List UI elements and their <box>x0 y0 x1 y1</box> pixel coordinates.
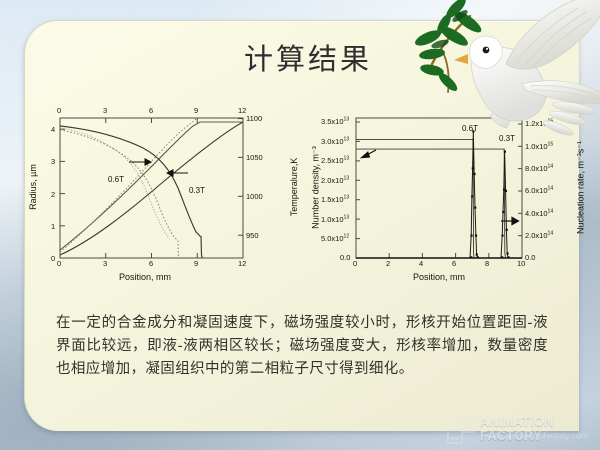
chart-radius-temperature: 0 3 6 9 12 0 3 6 9 12 0 1 2 3 4 950 1000… <box>18 100 300 290</box>
left-chart-y-axis-title: Radius, µm <box>28 149 38 225</box>
left-chart-top-xtick-3: 9 <box>194 106 198 115</box>
right-chart-xtick-3: 6 <box>452 259 456 268</box>
left-chart-xtick-1: 3 <box>103 259 107 268</box>
left-chart-top-xtick-2: 6 <box>149 106 153 115</box>
right-chart-xtick-1: 2 <box>386 259 390 268</box>
left-chart-y2tick-2: 1050 <box>246 153 263 162</box>
right-chart-xtick-4: 8 <box>485 259 489 268</box>
left-chart-ytick-1: 1 <box>51 222 55 231</box>
right-chart-ytick-3: 1.5x1013 <box>321 195 349 204</box>
right-chart-annotation-06t: 0.6T <box>462 124 478 133</box>
right-chart-ytick-6: 3.0x1013 <box>321 137 349 146</box>
left-chart-xtick-2: 6 <box>149 259 153 268</box>
right-chart-y2tick-5: 1.0x1015 <box>525 142 553 151</box>
left-chart-top-xtick-1: 3 <box>103 106 107 115</box>
right-chart-ytick-2: 1.0x1013 <box>321 215 349 224</box>
left-chart-xtick-4: 12 <box>238 259 246 268</box>
chart-number-density-nucleation-rate: 0 2 4 6 8 10 0.0 5.0x1012 1.0x1013 1.5x1… <box>303 100 583 290</box>
right-chart-y2-axis-title: Nucleation rate, m⁻³s⁻¹ <box>576 118 587 258</box>
page-title: 计算结果 <box>0 36 600 78</box>
left-chart-annotation-03t: 0.3T <box>189 186 205 195</box>
right-chart-y2tick-4: 8.0x1014 <box>525 164 553 173</box>
right-chart-ytick-4: 2.0x1013 <box>321 176 349 185</box>
right-chart-y2tick-0: 0.0 <box>525 253 535 262</box>
right-chart-ytick-0: 0.0 <box>340 253 350 262</box>
left-chart-xtick-3: 9 <box>194 259 198 268</box>
left-chart-x-axis-title: Position, mm <box>119 272 171 282</box>
right-chart-ytick-7: 3.5x1013 <box>321 117 349 126</box>
right-chart-y2tick-3: 6.0x1014 <box>525 186 553 195</box>
left-chart-ytick-4: 4 <box>51 125 55 134</box>
left-chart-ytick-3: 3 <box>51 157 55 166</box>
left-chart-y2-axis-title: Temperalure,K <box>289 133 299 241</box>
left-chart-top-xtick-0: 0 <box>57 106 61 115</box>
left-chart-y2tick-0: 950 <box>246 231 259 240</box>
right-chart-ytick-1: 5.0x1012 <box>321 234 349 243</box>
left-chart-y2tick-3: 1100 <box>246 114 262 123</box>
right-chart-y2tick-1: 2.0x1014 <box>525 231 553 240</box>
left-chart-y2tick-1: 1000 <box>246 192 263 201</box>
right-chart-x-axis-title: Position, mm <box>413 272 465 282</box>
right-chart-y2tick-6: 1.2x1015 <box>525 119 553 128</box>
right-chart-ytick-5: 2.5x1013 <box>321 156 349 165</box>
left-chart-ytick-2: 2 <box>51 190 55 199</box>
right-chart-xtick-0: 0 <box>353 259 357 268</box>
slide-canvas: 计算结果 <box>0 0 600 450</box>
right-chart-y2tick-2: 4.0x1014 <box>525 209 553 218</box>
left-chart-annotation-06t: 0.6T <box>108 175 124 184</box>
left-chart-ytick-0: 0 <box>51 254 55 263</box>
right-chart-y-axis-title: Number density, m⁻³ <box>311 123 322 253</box>
left-chart-xtick-0: 0 <box>57 259 61 268</box>
right-chart-annotation-03t: 0.3T <box>499 134 515 143</box>
watermark-url: www.animationfactory.com <box>484 430 588 440</box>
body-paragraph: 在一定的合金成分和凝固速度下，磁场强度较小时，形核开始位置距固-液界面比较远，即… <box>56 312 548 381</box>
right-chart-xtick-2: 4 <box>419 259 423 268</box>
